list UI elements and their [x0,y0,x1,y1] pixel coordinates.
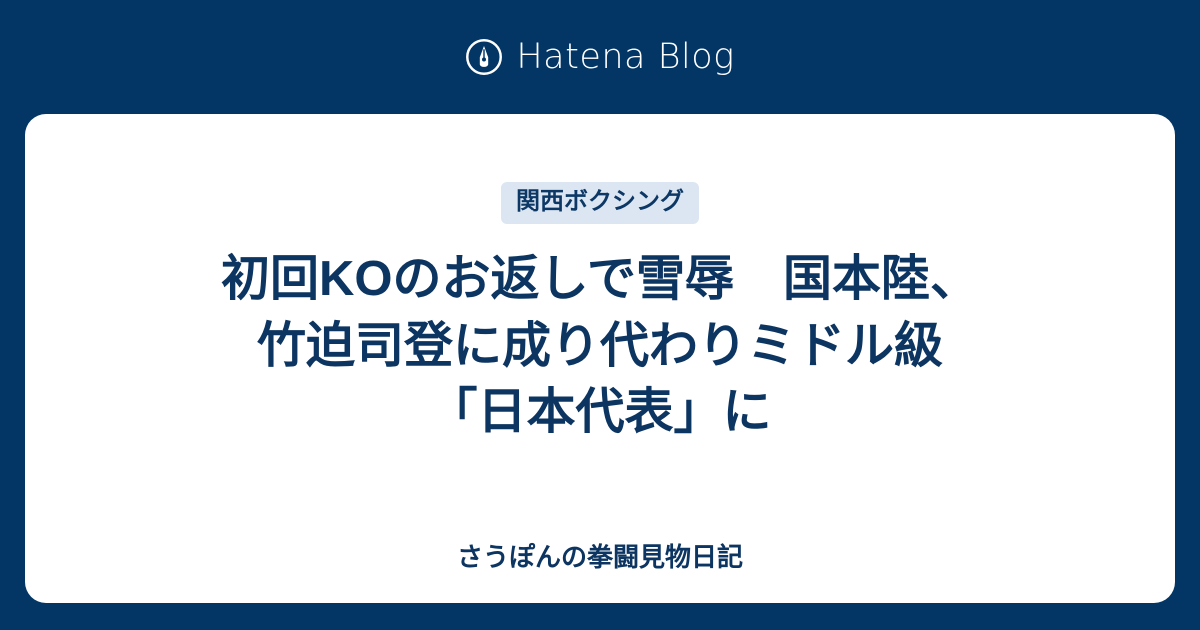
blog-name: さうぽんの拳闘見物日記 [457,541,743,575]
entry-card: 関西ボクシング 初回KOのお返しで雪辱 国本陸、 竹迫司登に成り代わりミドル級 … [25,114,1175,603]
entry-title-line: 「日本代表」に [221,379,979,446]
brand-name: Hatena Blog [516,40,734,75]
category-tag[interactable]: 関西ボクシング [501,182,699,224]
card-inner: 関西ボクシング 初回KOのお返しで雪辱 国本陸、 竹迫司登に成り代わりミドル級 … [25,114,1175,575]
og-image-canvas: Hatena Blog 関西ボクシング 初回KOのお返しで雪辱 国本陸、 竹迫司… [0,0,1200,630]
brand-header: Hatena Blog [0,0,1200,114]
entry-title-line: 初回KOのお返しで雪辱 国本陸、 [221,246,979,313]
entry-title-line: 竹迫司登に成り代わりミドル級 [221,313,979,380]
category-row: 関西ボクシング [501,182,699,224]
entry-title: 初回KOのお返しで雪辱 国本陸、 竹迫司登に成り代わりミドル級 「日本代表」に [221,246,979,446]
hatena-pen-nib-icon [465,38,503,76]
